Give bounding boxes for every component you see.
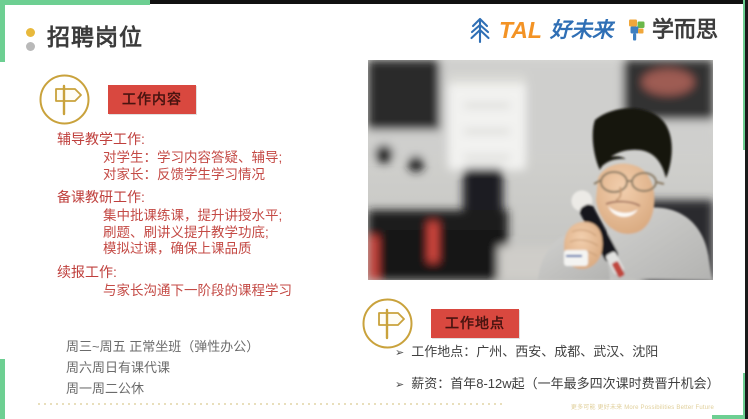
- content-group: 辅导教学工作: 对学生：学习内容答疑、辅导; 对家长：反馈学生学习情况: [57, 132, 357, 181]
- title-bullet-dots: [26, 28, 37, 54]
- group-title: 辅导教学工作:: [57, 132, 357, 146]
- badge-job-location: 工作地点: [431, 309, 519, 338]
- tal-chinese-name: 好未来: [550, 20, 613, 41]
- group-title: 续报工作:: [57, 265, 357, 279]
- gold-dot-icon: [26, 28, 35, 37]
- slide-canvas: 招聘岗位 TAL 好未来: [0, 0, 748, 419]
- work-schedule-list: 周三~周五 正常坐班（弹性办公） 周六周日有课代课 周一周二公休: [66, 336, 259, 399]
- corner-accent-left: [0, 0, 5, 62]
- salary-text: 薪资：首年8-12w起（一年最多四次课时费晋升机会）: [411, 373, 719, 392]
- group-item: 对家长：反馈学生学习情况: [103, 168, 357, 182]
- page-title: 招聘岗位: [47, 26, 143, 49]
- footer-slogan: 更多可能 更好未来 More Possibilities Better Futu…: [571, 402, 714, 411]
- arrow-bullet-icon: ➢: [395, 346, 404, 359]
- tal-logo: TAL 好未来: [467, 16, 613, 44]
- slide-header: 招聘岗位 TAL 好未来: [0, 0, 748, 58]
- content-group: 备课教研工作: 集中批课练课，提升讲授水平; 刷题、刷讲义提升教学功底; 模拟过…: [57, 190, 357, 256]
- corner-accent-bottom-right-h: [712, 415, 748, 419]
- group-item: 模拟过课，确保上课品质: [103, 242, 357, 256]
- content-group: 续报工作: 与家长沟通下一阶段的课程学习: [57, 265, 357, 298]
- puzzle-icon: [627, 19, 647, 41]
- office-photo: [368, 60, 713, 280]
- badge-job-content: 工作内容: [108, 85, 196, 114]
- gray-dot-icon: [26, 42, 35, 51]
- xueersi-logo: 学而思: [627, 19, 718, 41]
- job-content-list: 辅导教学工作: 对学生：学习内容答疑、辅导; 对家长：反馈学生学习情况 备课教研…: [57, 132, 357, 306]
- job-location-list: ➢ 工作地点：广州、西安、成都、武汉、沈阳 ➢ 薪资：首年8-12w起（一年最多…: [395, 341, 740, 405]
- salary-bullet: ➢ 薪资：首年8-12w起（一年最多四次课时费晋升机会）: [395, 373, 740, 392]
- footer-dotted-divider: [36, 403, 506, 405]
- top-edge-bar: [150, 0, 748, 4]
- tal-wordmark: TAL: [499, 19, 542, 42]
- group-item: 对学生：学习内容答疑、辅导;: [103, 151, 357, 165]
- group-item: 与家长沟通下一阶段的课程学习: [103, 284, 357, 298]
- corner-accent-bottom-left: [0, 359, 5, 419]
- corner-accent-top-left: [0, 0, 150, 5]
- tree-icon: [467, 16, 493, 44]
- group-item: 集中批课练课，提升讲授水平;: [103, 209, 357, 223]
- location-text: 工作地点：广州、西安、成都、武汉、沈阳: [411, 341, 658, 360]
- brand-lockup: TAL 好未来 学而思: [467, 16, 718, 44]
- arrow-bullet-icon: ➢: [395, 378, 404, 391]
- xueersi-wordmark: 学而思: [652, 19, 718, 41]
- group-title: 备课教研工作:: [57, 190, 357, 204]
- location-bullet: ➢ 工作地点：广州、西安、成都、武汉、沈阳: [395, 341, 740, 360]
- group-item: 刷题、刷讲义提升教学功底;: [103, 226, 357, 240]
- schedule-line: 周六周日有课代课: [66, 357, 259, 378]
- signpost-icon: [38, 73, 91, 126]
- section-header-job-content: 工作内容: [38, 73, 196, 126]
- schedule-line: 周一周二公休: [66, 378, 259, 399]
- schedule-line: 周三~周五 正常坐班（弹性办公）: [66, 336, 259, 357]
